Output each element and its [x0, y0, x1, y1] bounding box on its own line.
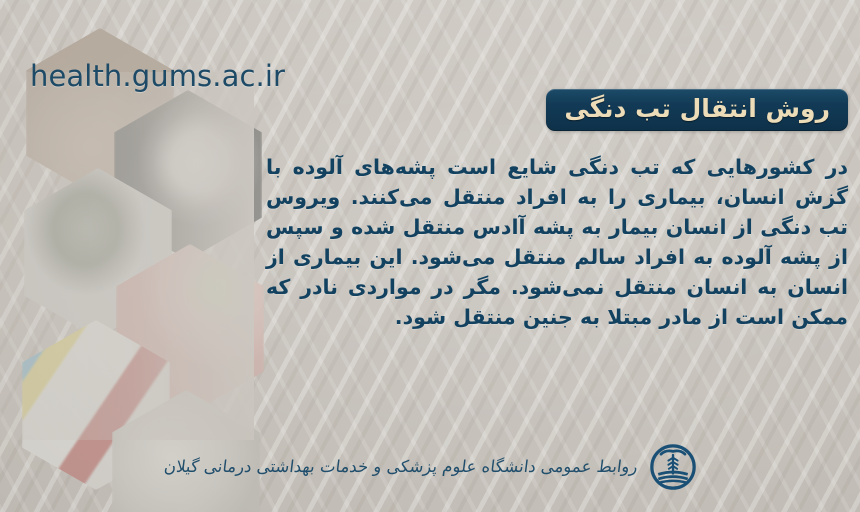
body-text-block: در کشورهایی که تب دنگی شایع است پشه‌های … — [266, 152, 848, 332]
collage-fade-overlay — [0, 72, 254, 440]
hexagon-tile-mosquito-dark — [114, 90, 262, 260]
title-badge: روش انتقال تب دنگی — [546, 89, 848, 131]
site-url[interactable]: health.gums.ac.ir — [30, 62, 285, 91]
hexagon-tile-colorful-lab — [22, 320, 170, 490]
poster-canvas: health.gums.ac.ir روش انتقال تب دنگی در … — [0, 0, 860, 512]
body-paragraph: در کشورهایی که تب دنگی شایع است پشه‌های … — [266, 152, 848, 332]
hexagon-tile-hands — [26, 28, 174, 198]
hexagon-tile-patient-skin — [116, 244, 264, 414]
ministry-of-health-emblem-icon — [650, 444, 696, 490]
hexagonal-photo-collage — [0, 72, 254, 440]
page-title: روش انتقال تب دنگی — [564, 96, 830, 121]
footer: روابط عمومی دانشگاه علوم پزشکی و خدمات ب… — [0, 444, 860, 490]
hexagon-tile-mosquito-gray — [24, 168, 172, 338]
footer-credit-text: روابط عمومی دانشگاه علوم پزشکی و خدمات ب… — [163, 458, 639, 477]
hexagon-tile-faded — [112, 390, 260, 512]
